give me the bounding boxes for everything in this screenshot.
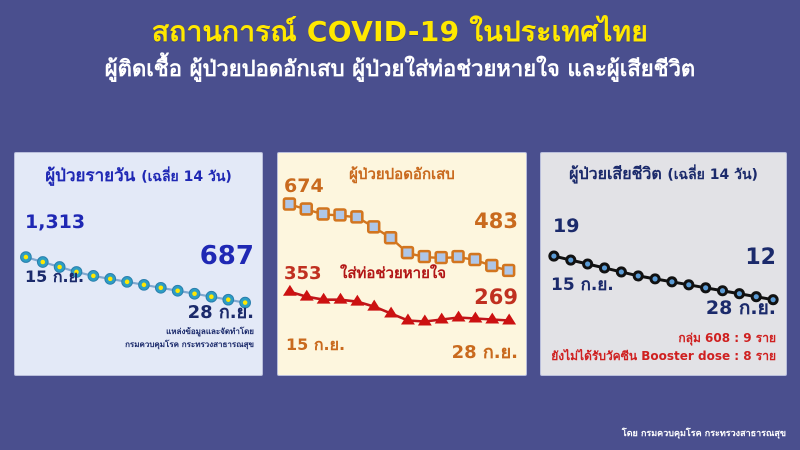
pneumonia-end-date: 28 ก.ย. <box>452 337 518 366</box>
intubation-start-value: 353 <box>284 263 322 284</box>
footer-credit: โดย กรมควบคุมโรค กระทรวงสาธารณสุข <box>622 426 786 440</box>
intubation-end-value: 269 <box>474 285 518 309</box>
daily-source-line2: กรมควบคุมโรค กระทรวงสาธารณสุข <box>125 338 254 351</box>
deaths-end-value: 12 <box>745 245 776 270</box>
deaths-start-date: 15 ก.ย. <box>551 271 614 298</box>
daily-source-line1: แหล่งข้อมูลและจัดทำโดย <box>166 325 254 338</box>
daily-start-date: 15 ก.ย. <box>25 265 84 290</box>
deaths-end-date: 28 ก.ย. <box>706 293 776 323</box>
pneumonia-start-value: 674 <box>284 175 324 197</box>
panel-pneumonia: ผู้ป่วยปอดอักเสบ <box>277 152 527 376</box>
deaths-note-booster: ยังไม่ได้รับวัคซีน Booster dose : 8 ราย <box>551 347 776 366</box>
charts-container: ผู้ป่วยรายวัน (เฉลี่ย 14 วัน) <box>0 152 800 376</box>
pneumonia-end-value: 483 <box>474 209 518 233</box>
daily-end-date: 28 ก.ย. <box>188 297 254 326</box>
page-title: สถานการณ์ COVID-19 ในประเทศไทย <box>0 16 800 48</box>
deaths-start-value: 19 <box>553 215 579 237</box>
page-subtitle: ผู้ติดเชื้อ ผู้ป่วยปอดอักเสบ ผู้ป่วยใส่ท… <box>0 57 800 83</box>
daily-start-value: 1,313 <box>25 211 85 233</box>
deaths-note-608: กลุ่ม 608 : 9 ราย <box>678 329 776 348</box>
pneumonia-start-date: 15 ก.ย. <box>286 333 345 358</box>
header: สถานการณ์ COVID-19 ในประเทศไทย ผู้ติดเชื… <box>0 0 800 84</box>
daily-end-value: 687 <box>200 241 254 271</box>
intubation-series-label: ใส่ท่อช่วยหายใจ <box>340 261 446 285</box>
panel-daily-cases: ผู้ป่วยรายวัน (เฉลี่ย 14 วัน) <box>14 152 263 376</box>
panel-deaths: ผู้ป่วยเสียชีวิต (เฉลี่ย 14 วัน) <box>540 152 787 376</box>
